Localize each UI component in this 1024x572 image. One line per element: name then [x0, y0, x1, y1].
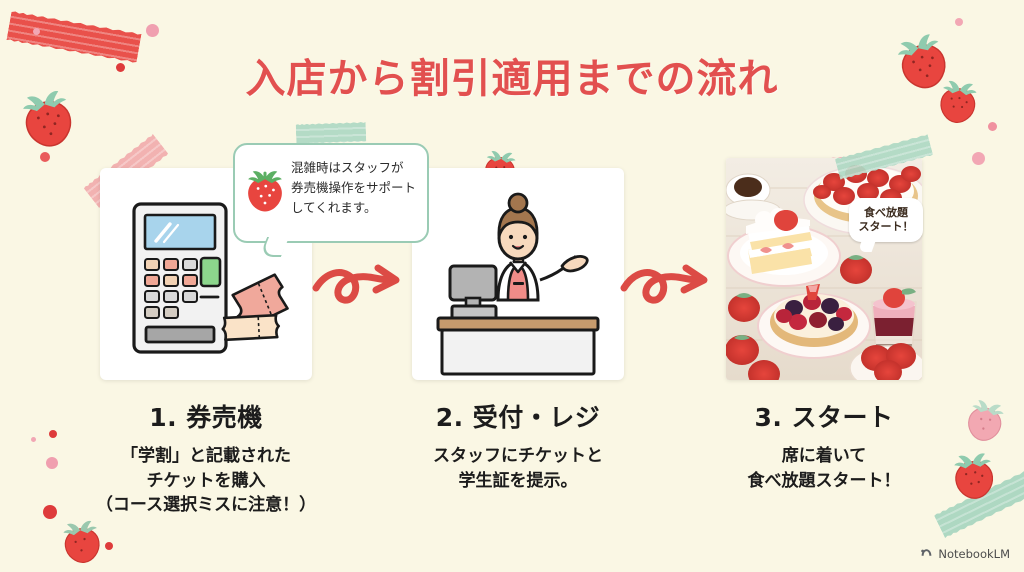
arrow-step1-to-step2 — [312, 252, 408, 320]
speech-bubble: 混雑時はスタッフが 券売機操作をサポート してくれます。 — [233, 143, 429, 243]
photo-badge-text: 食べ放題 スタート！ — [859, 206, 914, 234]
arrow-step2-to-step3 — [620, 252, 716, 320]
decor-dot — [955, 18, 963, 26]
infographic-canvas: 入店から割引適用までの流れ — [0, 0, 1024, 572]
watermark-label: NotebookLM — [938, 547, 1010, 561]
decor-dot — [105, 542, 113, 550]
speech-bubble-text: 混雑時はスタッフが 券売機操作をサポート してくれます。 — [291, 158, 420, 217]
step-3-photo — [726, 158, 922, 380]
decor-dot — [33, 28, 40, 35]
strawberry-icon — [961, 394, 1009, 450]
decor-dot — [988, 122, 997, 131]
step-2-body: スタッフにチケットと 学生証を提示。 — [368, 444, 668, 493]
step-2-card — [412, 168, 624, 380]
notebooklm-watermark: NotebookLM — [920, 546, 1010, 562]
strawberry-icon — [59, 515, 106, 570]
strawberry-icon — [245, 167, 285, 217]
step-3-heading: 3. スタート — [714, 398, 934, 434]
reception-staff-illustration — [412, 168, 624, 380]
decor-dot — [972, 152, 985, 165]
step-3-body: 席に着いて 食べ放題スタート！ — [704, 444, 944, 493]
step-2-heading: 2. 受付・レジ — [378, 398, 658, 434]
decor-dot — [146, 24, 159, 37]
washi-tape-mint-bubble — [296, 122, 367, 144]
notebooklm-logo-icon — [920, 546, 933, 562]
decor-dot — [31, 437, 36, 442]
page-title: 入店から割引適用までの流れ — [0, 46, 1024, 104]
dessert-buffet-photo — [726, 158, 922, 380]
strawberry-icon — [949, 448, 998, 506]
step-1-body: 「学割」と記載された チケットを購入 （コース選択ミスに注意！） — [26, 444, 386, 518]
photo-badge: 食べ放題 スタート！ — [849, 198, 923, 242]
step-1-heading: 1. 券売機 — [56, 398, 356, 434]
